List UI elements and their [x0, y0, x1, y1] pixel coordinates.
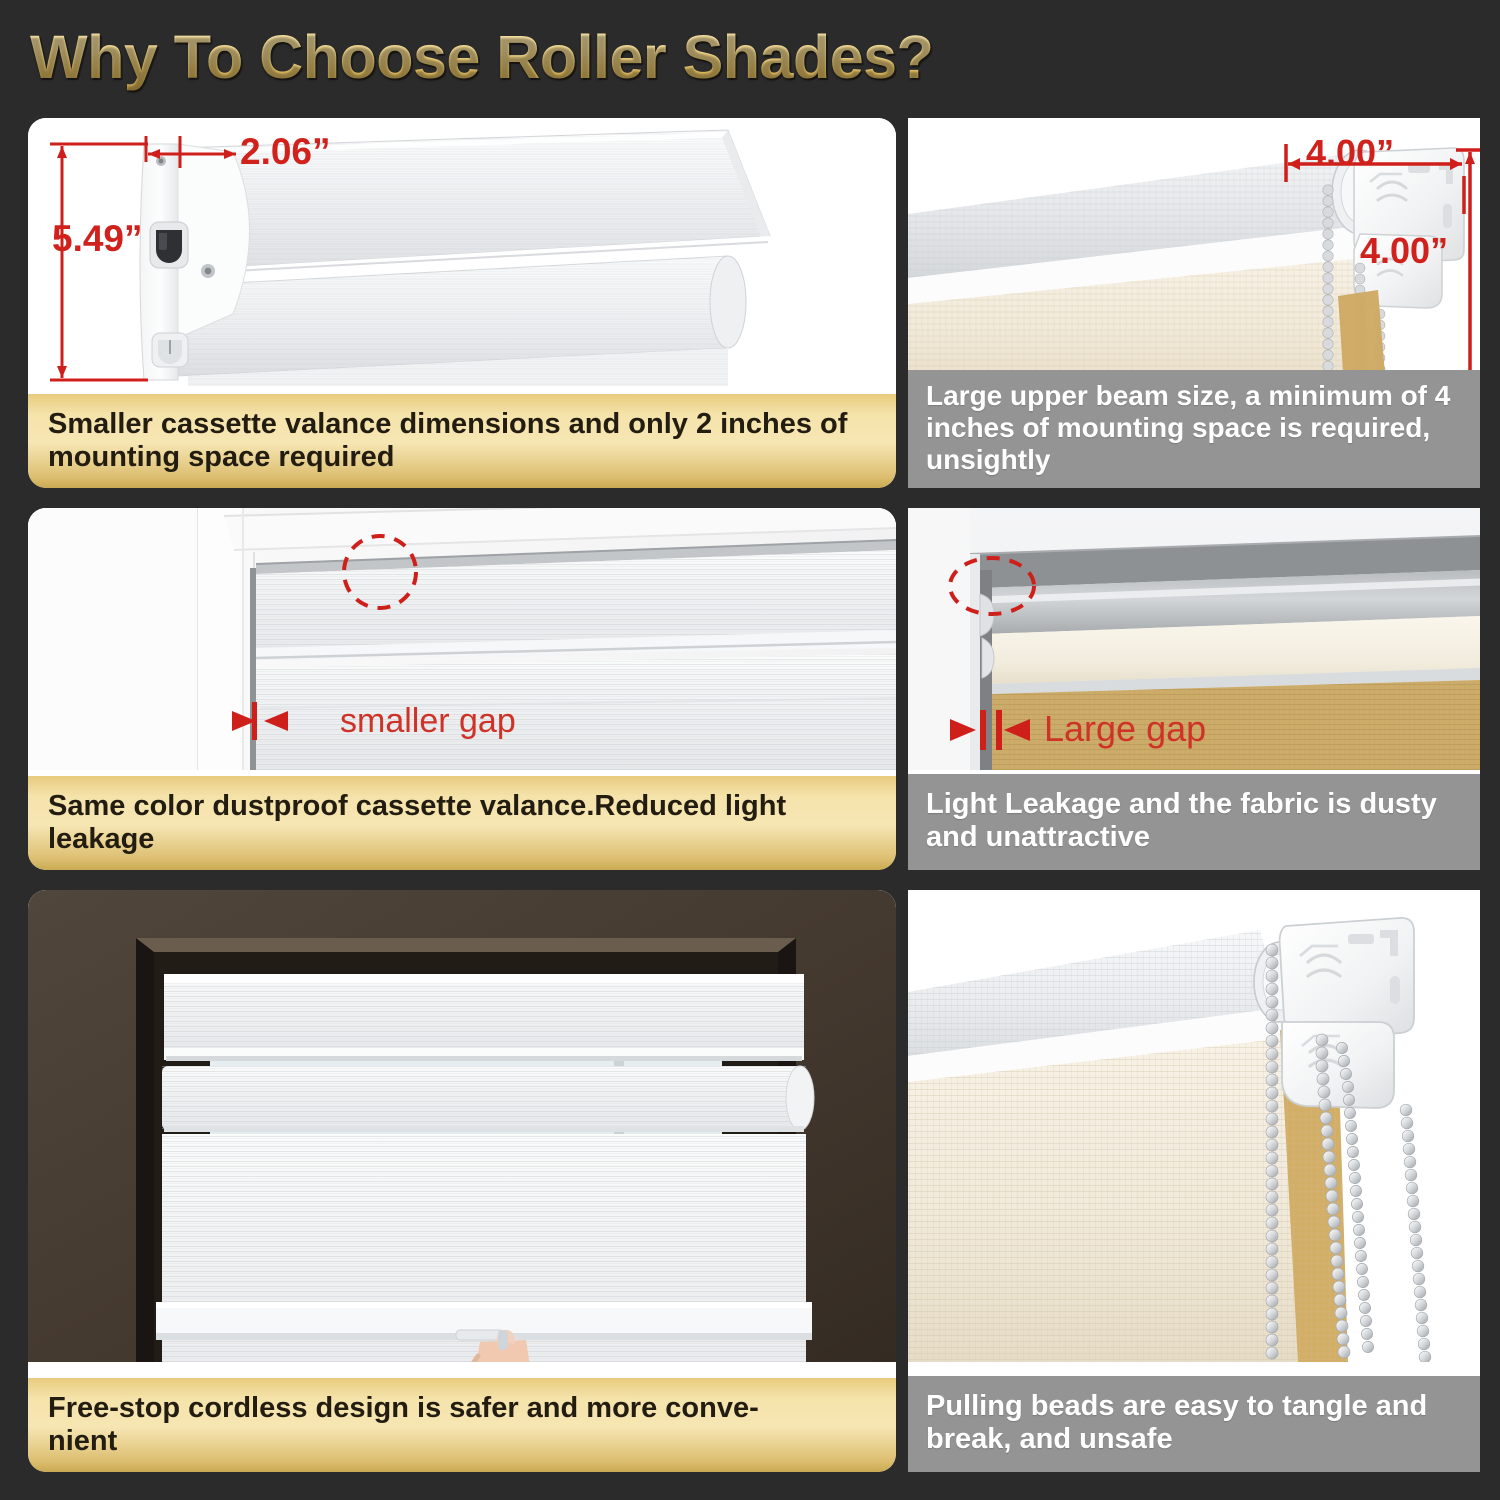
panel-4-image: Large gap: [908, 508, 1480, 770]
annotation-large-gap: Large gap: [1044, 708, 1206, 750]
panel-2-image: 4.00” 4.00”: [908, 118, 1480, 386]
panel-cordless-design: Free-stop cordless design is safer and m…: [28, 890, 896, 1472]
panel-1-image: 2.06” 5.49”: [28, 118, 896, 386]
dimension-label-width-400: 4.00”: [1306, 132, 1394, 174]
panel-3-image: smaller gap: [28, 508, 896, 770]
panel-4-caption: Light Leakage and the fabric is dusty an…: [908, 774, 1480, 870]
panel-1-caption: Smaller cassette valance dimensions and …: [28, 394, 896, 488]
panel-2-caption: Large upper beam size, a minimum of 4 in…: [908, 370, 1480, 488]
panel-6-image: [908, 890, 1480, 1362]
panel-3-caption: Same color dustproof cassette valance.Re…: [28, 776, 896, 870]
dimension-label-height-400: 4.00”: [1360, 230, 1448, 272]
bead-chain-shade-illustration: [908, 890, 1480, 1362]
panel-smaller-cassette: 2.06” 5.49” Smaller cassette valance dim…: [28, 118, 896, 488]
dimension-label-height-549: 5.49”: [52, 218, 143, 260]
annotation-smaller-gap: smaller gap: [340, 702, 516, 741]
panel-pulling-beads: Pulling beads are easy to tangle and bre…: [908, 890, 1480, 1472]
page-title: Why To Choose Roller Shades?: [30, 22, 933, 92]
cordless-shade-window-scene: [28, 890, 896, 1362]
panel-6-caption: Pulling beads are easy to tangle and bre…: [908, 1376, 1480, 1472]
panel-5-image: [28, 890, 896, 1362]
infographic-root: Why To Choose Roller Shades? Why To Choo…: [0, 0, 1500, 1500]
panel-5-caption: Free-stop cordless design is safer and m…: [28, 1378, 896, 1472]
panel-large-upper-beam: 4.00” 4.00” Large upper beam size, a min…: [908, 118, 1480, 488]
dimension-label-width-206: 2.06”: [240, 131, 331, 173]
panel-dustproof-cassette: smaller gap Same color dustproof cassett…: [28, 508, 896, 870]
cassette-valance-illustration: [28, 118, 896, 386]
panel-light-leakage: Large gap Light Leakage and the fabric i…: [908, 508, 1480, 870]
